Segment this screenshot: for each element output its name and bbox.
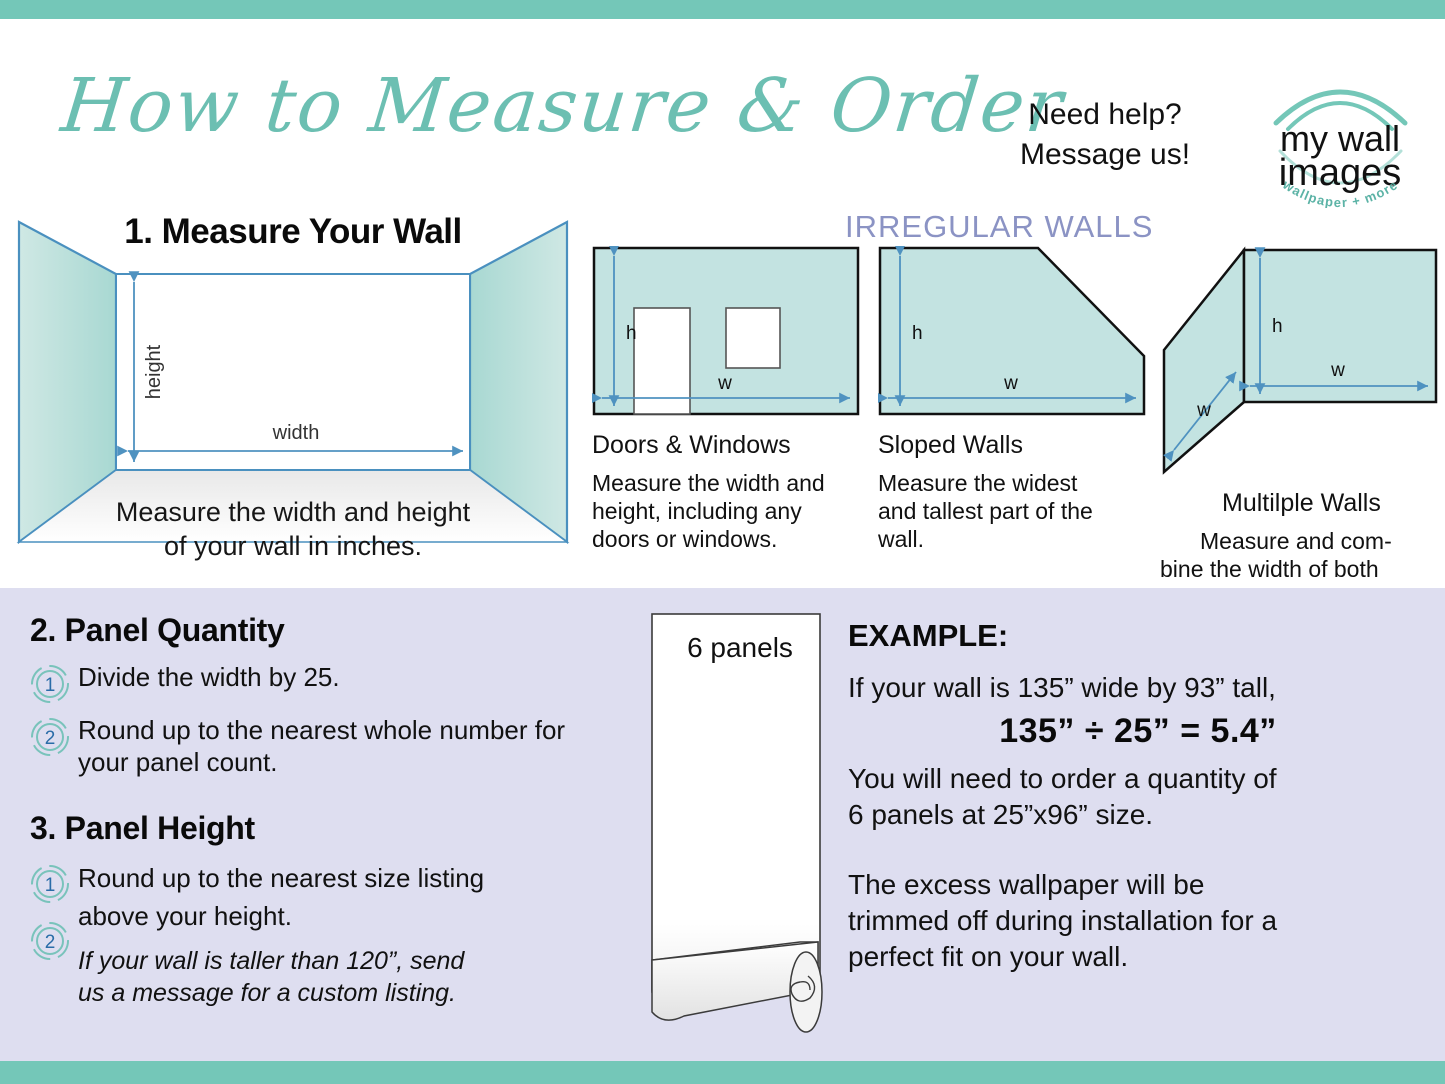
section1-caption-line-1: Measure the width and height xyxy=(16,495,570,529)
example-line-6: perfect fit on your wall. xyxy=(848,939,1428,975)
need-help-block: Need help? Message us! xyxy=(1005,95,1205,175)
page-title: How to Measure & Order xyxy=(57,63,1068,149)
card-desc-line-2: and tallest part of the xyxy=(878,497,1146,525)
adjacent-wall xyxy=(1164,250,1244,472)
height-dimension-label: height xyxy=(143,344,165,399)
sloped-walls-diagram: h w xyxy=(878,246,1146,418)
need-help-line-1: Need help? xyxy=(1005,95,1205,135)
header: How to Measure & Order Need help? Messag… xyxy=(0,19,1445,189)
bottom-accent-bar xyxy=(0,1061,1445,1084)
card-desc-line-3: doors or windows. xyxy=(592,525,860,553)
section3-number-stack: 1 2 xyxy=(30,861,70,978)
list-item-text: Round up to the nearest whole number for… xyxy=(78,714,590,778)
badge-number: 1 xyxy=(45,675,56,696)
roll-end-cap xyxy=(790,952,822,1032)
doors-windows-diagram: h w xyxy=(592,246,860,418)
badge-number: 1 xyxy=(45,875,56,896)
section2-heading: 2. Panel Quantity xyxy=(30,612,590,649)
card-desc-line-1: Measure and com- xyxy=(1160,527,1440,555)
section-measure-your-wall: height width 1. Measure Your Wall Measur… xyxy=(16,212,570,562)
card-description: Measure the widest and tallest part of t… xyxy=(878,469,1146,553)
w-label: w xyxy=(717,373,732,394)
section3-line-1: Round up to the nearest size listing xyxy=(78,859,590,897)
step-number-badge: 1 xyxy=(30,864,70,909)
h-label: h xyxy=(1272,316,1283,337)
brand-logo: my wall images wallpaper + more xyxy=(1258,63,1423,208)
panel-sheet xyxy=(652,614,820,992)
example-line-4: The excess wallpaper will be xyxy=(848,867,1428,903)
list-item-text: Divide the width by 25. xyxy=(78,661,340,693)
panel-instructions-column: 2. Panel Quantity 1 Divide the width by … xyxy=(30,612,590,1009)
example-line-5: trimmed off during installation for a xyxy=(848,903,1428,939)
card-label: Multilple Walls xyxy=(1222,489,1440,518)
example-line-3: 6 panels at 25”x96” size. xyxy=(848,797,1428,833)
irregular-card-multiple-walls: h w w Multilple Walls Measure and com- b… xyxy=(1160,246,1440,611)
section1-heading: 1. Measure Your Wall xyxy=(16,212,570,252)
infographic-page: How to Measure & Order Need help? Messag… xyxy=(0,0,1445,1084)
list-item: 2 Round up to the nearest whole number f… xyxy=(30,714,590,778)
top-accent-bar xyxy=(0,0,1445,19)
section1-caption-line-2: of your wall in inches. xyxy=(16,529,570,563)
section3-line-2: above your height. xyxy=(78,897,590,935)
roll-label: 6 panels xyxy=(640,632,840,664)
h-label: h xyxy=(626,323,637,344)
section3-heading: 3. Panel Height xyxy=(30,810,590,847)
section3-note: If your wall is taller than 120”, send u… xyxy=(78,945,590,1009)
width-dimension-label: width xyxy=(272,422,320,444)
panel-roll-illustration: 6 panels xyxy=(640,612,840,1037)
section1-caption: Measure the width and height of your wal… xyxy=(16,495,570,563)
irregular-card-sloped-walls: h w Sloped Walls Measure the widest and … xyxy=(878,246,1146,553)
section3-note-line-1: If your wall is taller than 120”, send xyxy=(78,945,590,977)
example-line-2: You will need to order a quantity of xyxy=(848,761,1428,797)
section3-list: 1 2 Round up to the nearest size listing… xyxy=(30,859,590,1009)
example-spacer xyxy=(848,833,1428,867)
section2-list: 1 Divide the width by 25. 2 Round up to … xyxy=(30,661,590,778)
section3-body: Round up to the nearest size listing abo… xyxy=(78,859,590,935)
multiple-walls-diagram: h w w xyxy=(1160,246,1440,476)
window-shape xyxy=(726,308,780,368)
card-desc-line-2: height, including any xyxy=(592,497,860,525)
example-column: EXAMPLE: If your wall is 135” wide by 93… xyxy=(848,618,1428,975)
irregular-card-doors-windows: h w Doors & Windows Measure the width an… xyxy=(592,246,860,553)
card-desc-line-2: bine the width of both xyxy=(1160,555,1440,583)
example-line-1: If your wall is 135” wide by 93” tall, xyxy=(848,670,1428,706)
step-number-badge: 1 xyxy=(30,664,70,709)
w-label-front: w xyxy=(1330,360,1345,381)
w-label: w xyxy=(1003,373,1018,394)
card-desc-line-3: wall. xyxy=(878,525,1146,553)
badge-number: 2 xyxy=(45,932,56,953)
example-equation: 135” ÷ 25” = 5.4” xyxy=(848,712,1428,751)
w-label-side: w xyxy=(1196,400,1211,421)
card-description: Measure the width and height, including … xyxy=(592,469,860,553)
step-number-badge: 2 xyxy=(30,717,70,762)
card-desc-line-1: Measure the width and xyxy=(592,469,860,497)
card-desc-line-1: Measure the widest xyxy=(878,469,1146,497)
wallpaper-roll-graphic xyxy=(640,612,840,1037)
step-number-badge: 2 xyxy=(30,921,70,966)
card-label: Sloped Walls xyxy=(878,431,1146,460)
need-help-line-2: Message us! xyxy=(1005,135,1205,175)
h-label: h xyxy=(912,323,923,344)
irregular-walls-heading: IRREGULAR WALLS xyxy=(845,209,1153,245)
card-label: Doors & Windows xyxy=(592,431,860,460)
example-heading: EXAMPLE: xyxy=(848,618,1428,654)
section3-note-line-2: us a message for a custom listing. xyxy=(78,977,590,1009)
list-item: 1 Divide the width by 25. xyxy=(30,661,590,709)
badge-number: 2 xyxy=(45,728,56,749)
